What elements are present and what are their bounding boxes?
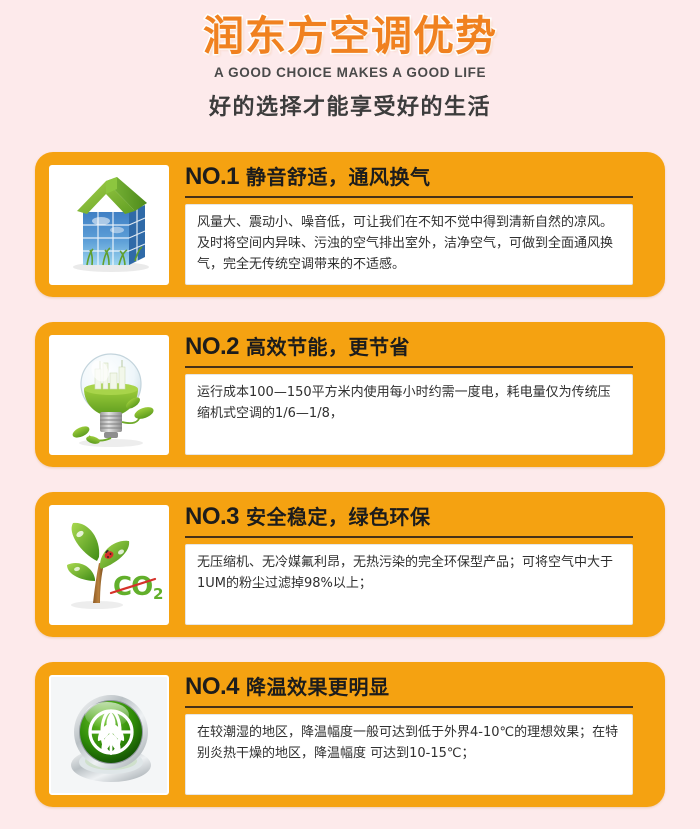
page-tagline: A GOOD CHOICE MAKES A GOOD LIFE — [0, 65, 700, 80]
green-eco-badge-icon — [49, 675, 169, 795]
advantage-card-list: NO.1 静音舒适，通风换气 风量大、震动小、噪音低，可让我们在不知不觉中得到清… — [0, 152, 700, 807]
card-content: NO.2 高效节能，更节省 运行成本100—150平方米内使用每小时约需一度电，… — [185, 335, 633, 455]
card-title: 降温效果更明显 — [246, 677, 390, 697]
page-title: 润东方空调优势 — [0, 14, 700, 60]
card-heading: NO.3 安全稳定，绿色环保 — [185, 505, 633, 538]
card-content: NO.3 安全稳定，绿色环保 无压缩机、无冷媒氟利昂，无热污染的完全环保型产品；… — [185, 505, 633, 625]
card-content: NO.1 静音舒适，通风换气 风量大、震动小、噪音低，可让我们在不知不觉中得到清… — [185, 165, 633, 285]
card-description: 风量大、震动小、噪音低，可让我们在不知不觉中得到清新自然的凉风。及时将空间内异味… — [185, 204, 633, 285]
page-header: 润东方空调优势 A GOOD CHOICE MAKES A GOOD LIFE … — [0, 0, 700, 121]
card-title: 安全稳定，绿色环保 — [246, 507, 431, 527]
card-description: 无压缩机、无冷媒氟利昂，无热污染的完全环保型产品；可将空气中大于1UM的粉尘过滤… — [185, 544, 633, 625]
card-heading: NO.1 静音舒适，通风换气 — [185, 165, 633, 198]
card-number: NO.4 — [185, 675, 239, 699]
card-heading: NO.2 高效节能，更节省 — [185, 335, 633, 368]
card-content: NO.4 降温效果更明显 在较潮湿的地区，降温幅度一般可达到低于外界4-10℃的… — [185, 675, 633, 795]
advantage-card: NO.1 静音舒适，通风换气 风量大、震动小、噪音低，可让我们在不知不觉中得到清… — [35, 152, 665, 297]
green-roof-house-icon — [49, 165, 169, 285]
advantage-card: NO.4 降温效果更明显 在较潮湿的地区，降温幅度一般可达到低于外界4-10℃的… — [35, 662, 665, 807]
svg-text:2: 2 — [153, 585, 163, 603]
card-description: 在较潮湿的地区，降温幅度一般可达到低于外界4-10℃的理想效果；在特别炎热干燥的… — [185, 714, 633, 795]
card-heading: NO.4 降温效果更明显 — [185, 675, 633, 708]
advantage-card: CO 2 NO.3 安全稳定，绿色环保 无压缩机、无冷媒氟利昂，无热污染的完全环… — [35, 492, 665, 637]
card-number: NO.3 — [185, 505, 239, 529]
eco-lightbulb-icon — [49, 335, 169, 455]
card-number: NO.2 — [185, 335, 239, 359]
page-subtitle: 好的选择才能享受好的生活 — [0, 89, 700, 121]
card-title: 静音舒适，通风换气 — [246, 167, 431, 187]
co2-sapling-icon: CO 2 — [49, 505, 169, 625]
card-title: 高效节能，更节省 — [246, 337, 410, 357]
card-description: 运行成本100—150平方米内使用每小时约需一度电，耗电量仅为传统压缩机式空调的… — [185, 374, 633, 455]
card-number: NO.1 — [185, 165, 239, 189]
advantage-card: NO.2 高效节能，更节省 运行成本100—150平方米内使用每小时约需一度电，… — [35, 322, 665, 467]
